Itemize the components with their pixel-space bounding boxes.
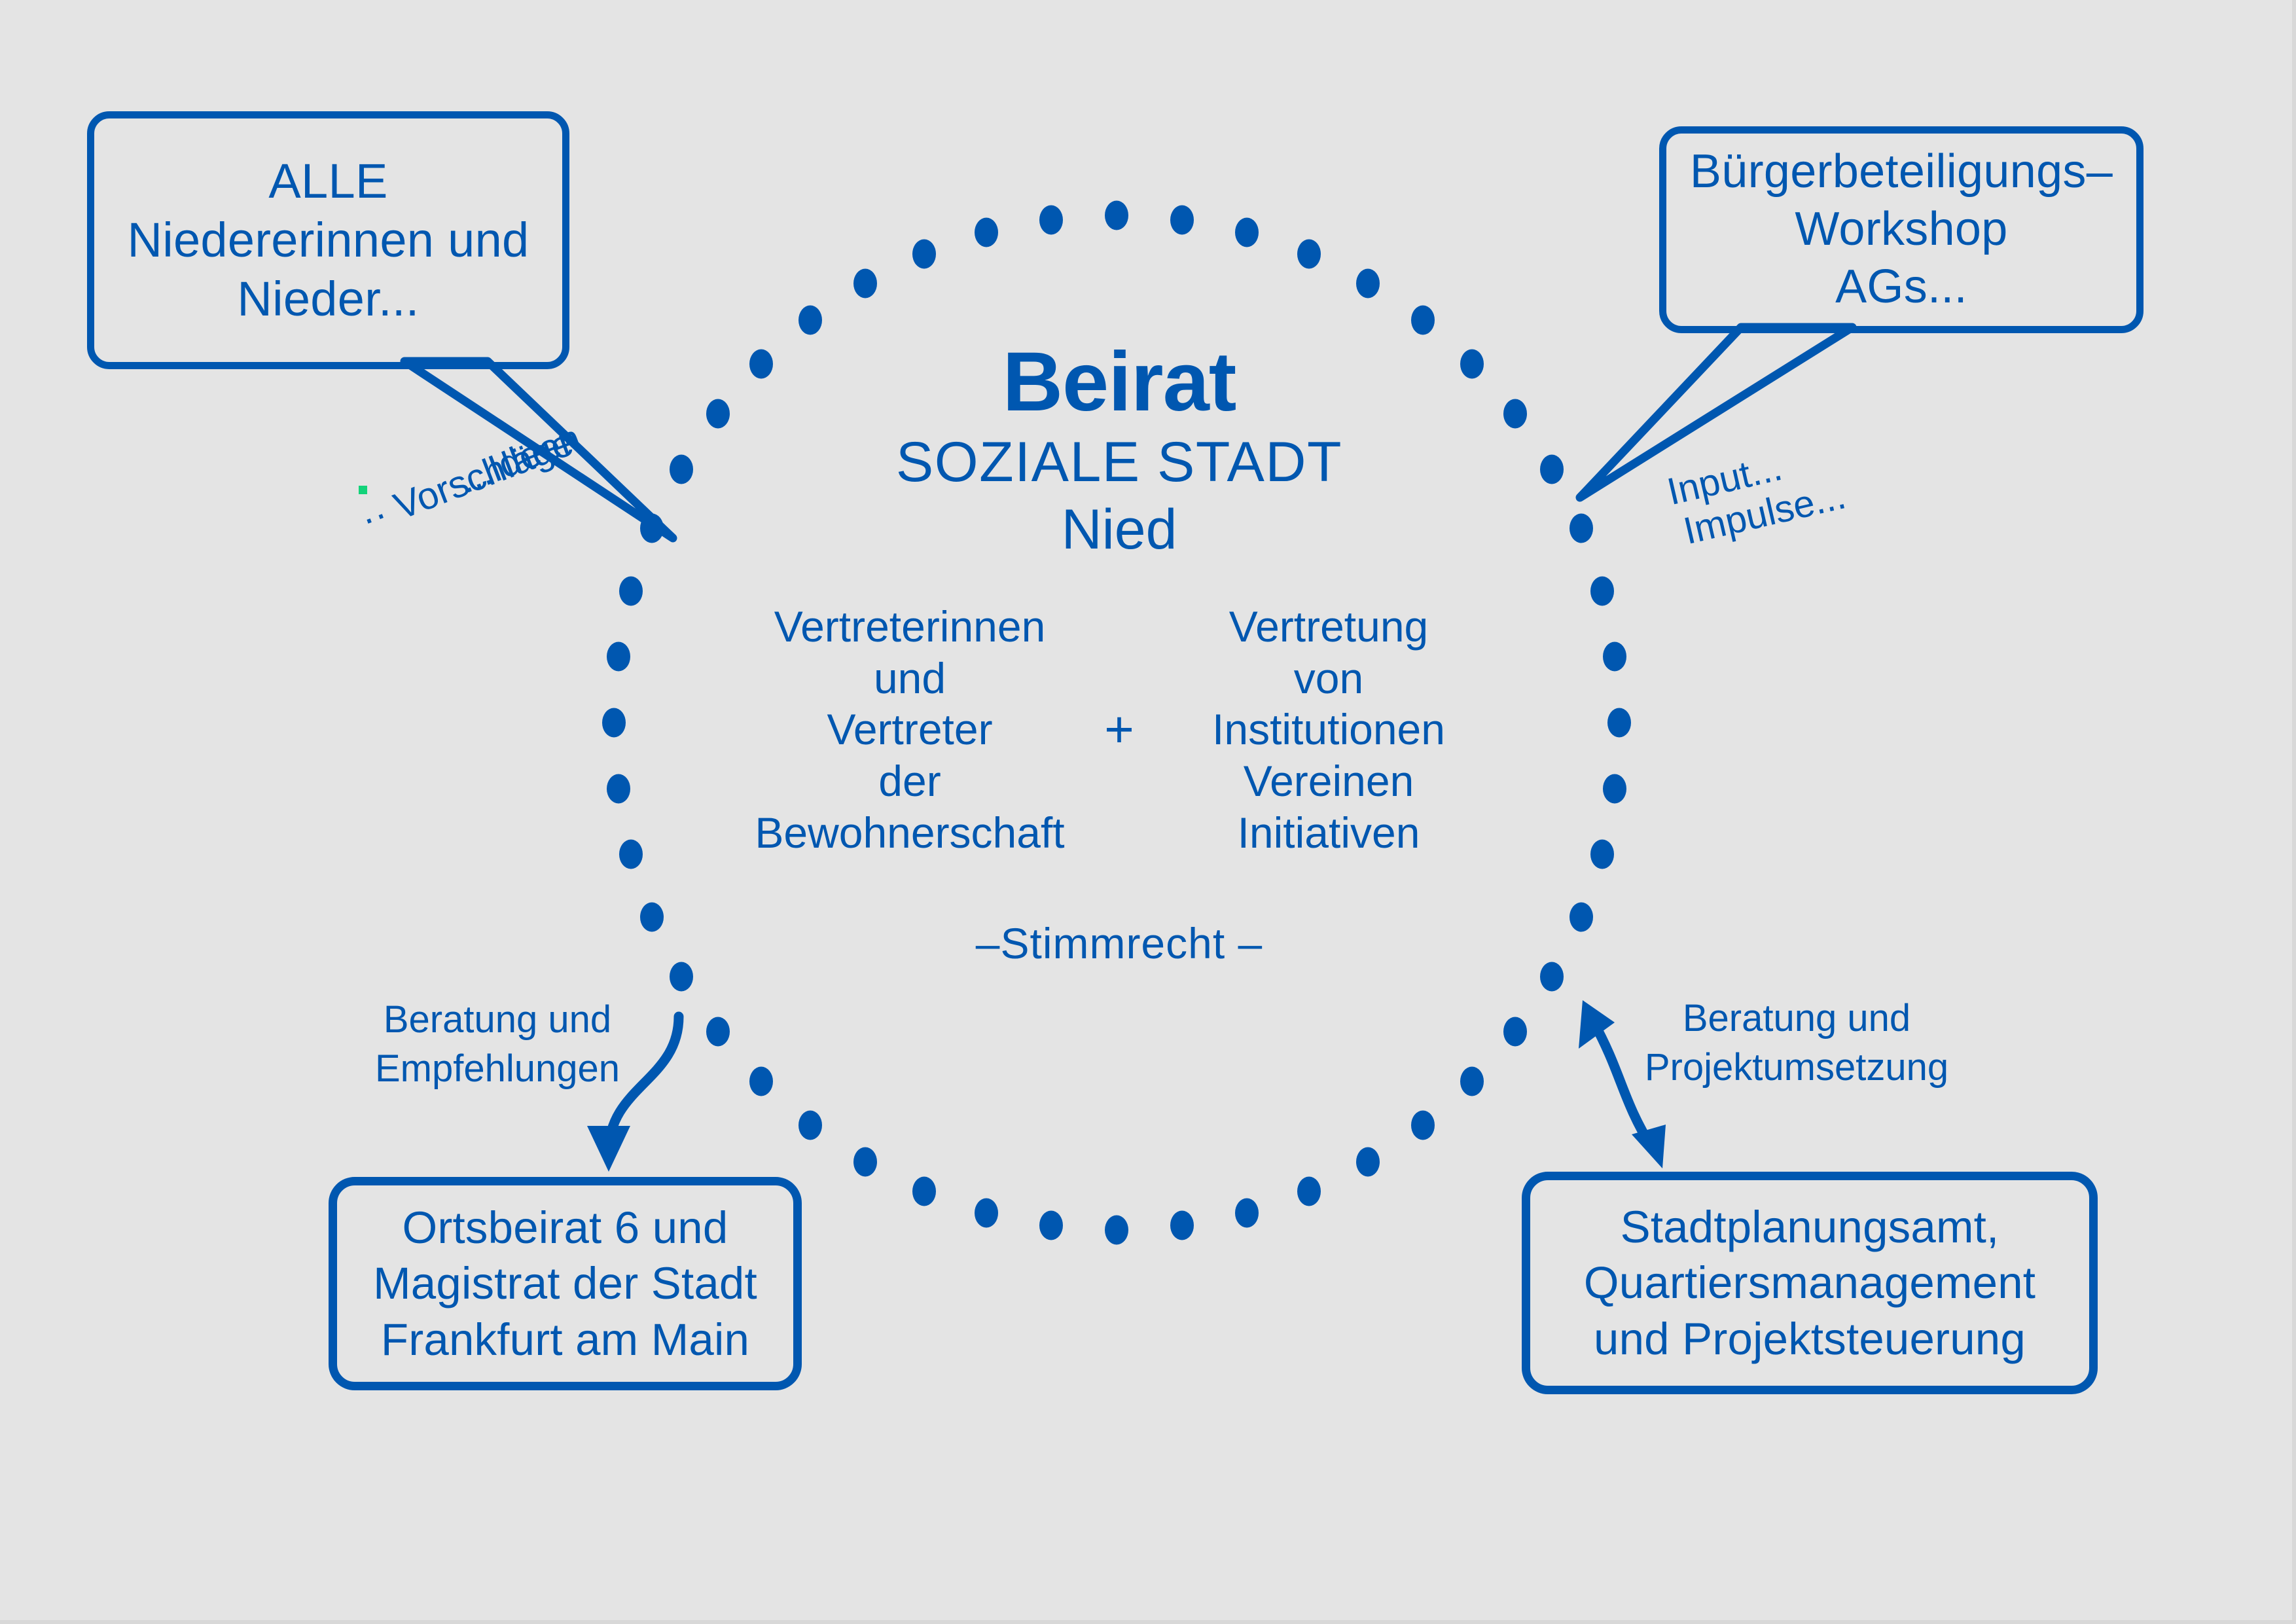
ring-dot [975, 218, 998, 247]
subtitle-soziale-stadt: SOZIALE STADT [677, 428, 1561, 497]
ring-dot [1603, 774, 1626, 804]
ring-dot [1590, 577, 1614, 606]
ring-dot [1235, 218, 1259, 247]
ring-dot [1297, 1177, 1321, 1206]
speech-bubble-participation-text: Bürgerbeteiligungs– Workshop AGs... [1678, 143, 2125, 316]
diagram-canvas: ALLE Niedererinnen und Nieder... Bürgerb… [0, 0, 2296, 1624]
plus-icon: + [1083, 700, 1155, 759]
ring-dot [706, 1017, 730, 1046]
ring-dot [912, 239, 936, 268]
box-stadtplanungsamt-text: Stadtplanungsamt, Quartiersmanagement un… [1584, 1199, 2036, 1367]
ring-dot [1170, 205, 1194, 234]
ring-dot [1590, 839, 1614, 869]
speech-bubble-citizens-text: ALLE Niedererinnen und Nieder... [116, 152, 541, 329]
ring-dot [1170, 1211, 1194, 1240]
subtitle-nied: Nied [677, 497, 1561, 563]
ring-dot [1356, 268, 1380, 298]
ring-dot [619, 577, 643, 606]
membership-columns: Vertreterinnen und Vertreter der Bewohne… [677, 601, 1561, 858]
ring-dot [798, 1110, 822, 1140]
ring-dot [749, 1067, 773, 1096]
ring-dot [1411, 1110, 1435, 1140]
column-bewohnerschaft: Vertreterinnen und Vertreter der Bewohne… [736, 601, 1083, 858]
box-stadtplanungsamt[interactable]: Stadtplanungsamt, Quartiersmanagement un… [1522, 1172, 2098, 1394]
right-arrow-head-down [1632, 1125, 1666, 1168]
annotation-vorschlaege: ·· Vorschläge [353, 418, 581, 546]
ring-dot [619, 839, 643, 869]
speech-bubble-citizens[interactable]: ALLE Niedererinnen und Nieder... [87, 111, 569, 369]
annotation-beratung-empfehlungen: Beratung und Empfehlungen [367, 995, 628, 1094]
ring-dot [798, 306, 822, 335]
ring-dot [640, 514, 664, 543]
ring-dot [1039, 1211, 1063, 1240]
ring-dot [1570, 902, 1593, 931]
ring-dot [1607, 708, 1631, 738]
page-title: Beirat [677, 340, 1561, 424]
ring-dot [607, 774, 630, 804]
ring-dot [1570, 514, 1593, 543]
ring-dot [975, 1198, 998, 1227]
left-arrow-head-down [587, 1126, 630, 1172]
ring-dot [607, 641, 630, 671]
annotation-beratung-projektumsetzung: Beratung und Projektumsetzung [1643, 994, 1950, 1092]
column-institutionen: Vertretung von Institutionen Vereinen In… [1155, 601, 1502, 858]
stimmrecht-note: –Stimmrecht – [677, 918, 1561, 968]
ring-dot [1235, 1198, 1259, 1227]
ring-dot [1105, 1216, 1128, 1245]
ring-dot [1503, 1017, 1527, 1046]
ring-dot [853, 1147, 877, 1177]
box-ortsbeirat-magistrat[interactable]: Ortsbeirat 6 und Magistrat der Stadt Fra… [329, 1177, 802, 1390]
ring-dot [1105, 201, 1128, 230]
beirat-core: Beirat SOZIALE STADT Nied Vertreterinnen… [677, 340, 1561, 968]
ring-dot [1411, 306, 1435, 335]
ring-dot [853, 268, 877, 298]
box-ortsbeirat-magistrat-text: Ortsbeirat 6 und Magistrat der Stadt Fra… [373, 1200, 757, 1368]
green-marker-dot [359, 486, 367, 494]
ring-dot [1356, 1147, 1380, 1177]
ring-dot [602, 708, 626, 738]
ring-dot [912, 1177, 936, 1206]
ring-dot [1603, 641, 1626, 671]
right-arrow-head-up [1579, 1000, 1615, 1049]
ring-dot [1039, 205, 1063, 234]
ring-dot [640, 902, 664, 931]
speech-bubble-participation[interactable]: Bürgerbeteiligungs– Workshop AGs... [1659, 126, 2144, 333]
ring-dot [1460, 1067, 1484, 1096]
ring-dot [1297, 239, 1321, 268]
